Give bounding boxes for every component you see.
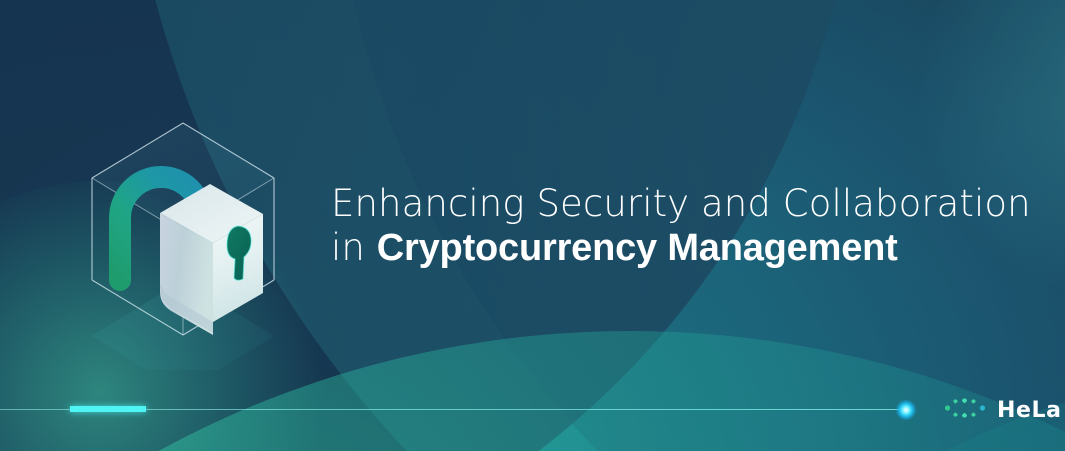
hela-helix-icon xyxy=(944,396,988,425)
page-title: Enhancing Security and Collaboration in … xyxy=(331,182,1031,270)
brand-name: HeLa xyxy=(997,398,1062,423)
promo-banner: Enhancing Security and Collaboration in … xyxy=(0,0,1065,451)
brand-logo[interactable]: HeLa xyxy=(944,396,1062,425)
accent-bar xyxy=(70,406,146,412)
headline-line-2-emphasis: Cryptocurrency Management xyxy=(377,227,898,269)
headline-line-2-prefix: in xyxy=(331,226,377,269)
padlock-in-cube-icon xyxy=(60,100,320,370)
headline-line-2: in Cryptocurrency Management xyxy=(331,226,1031,271)
headline-line-1-text: Enhancing Security and Collaboration xyxy=(331,182,1031,225)
headline-line-1: Enhancing Security and Collaboration xyxy=(331,182,1031,226)
glow-dot-icon xyxy=(896,400,916,420)
